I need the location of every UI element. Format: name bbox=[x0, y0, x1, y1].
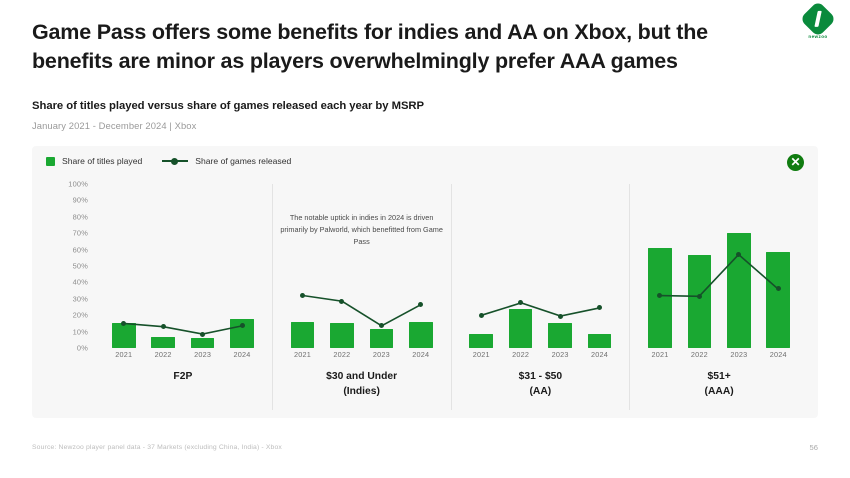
line-marker bbox=[161, 324, 166, 329]
x-axis-tick: 2023 bbox=[540, 350, 579, 359]
panel-title-line2: (Indies) bbox=[273, 385, 451, 400]
line-marker bbox=[479, 313, 484, 318]
chart-panel: The notable uptick in indies in 2024 is … bbox=[272, 184, 451, 410]
x-axis-tick: 2022 bbox=[501, 350, 540, 359]
panel-title-line1: $51+ bbox=[630, 370, 808, 385]
panel-plot bbox=[640, 184, 798, 348]
panel-title: F2P bbox=[94, 370, 272, 385]
chart-heading: Share of titles played versus share of g… bbox=[32, 100, 424, 112]
x-axis-tick: 2024 bbox=[401, 350, 440, 359]
x-axis-labels: 2021202220232024 bbox=[104, 350, 262, 359]
panel-plot bbox=[104, 184, 262, 348]
panel-title: $31 - $50(AA) bbox=[452, 370, 630, 400]
legend-item-games-released: Share of games released bbox=[162, 156, 291, 166]
panel-title: $30 and Under(Indies) bbox=[273, 370, 451, 400]
panel-title-line1: $31 - $50 bbox=[452, 370, 630, 385]
y-axis-tick: 40% bbox=[73, 278, 88, 287]
y-axis-tick: 20% bbox=[73, 311, 88, 320]
line-marker bbox=[240, 323, 245, 328]
x-axis-tick: 2022 bbox=[680, 350, 719, 359]
x-axis-tick: 2021 bbox=[640, 350, 679, 359]
y-axis-tick: 50% bbox=[73, 262, 88, 271]
y-axis-tick: 60% bbox=[73, 245, 88, 254]
chart-subheading: January 2021 - December 2024 | Xbox bbox=[32, 120, 196, 131]
x-axis-tick: 2022 bbox=[322, 350, 361, 359]
chart-card: Share of titles played Share of games re… bbox=[32, 146, 818, 418]
x-axis-tick: 2024 bbox=[580, 350, 619, 359]
panel-title-line1: F2P bbox=[94, 370, 272, 385]
newzoo-diamond-icon bbox=[800, 1, 837, 38]
panel-plot bbox=[283, 184, 441, 348]
y-axis-tick: 80% bbox=[73, 212, 88, 221]
chart-panel: 2021202220232024$51+(AAA) bbox=[629, 184, 808, 410]
chart-panel: 2021202220232024F2P bbox=[94, 184, 272, 410]
newzoo-logo: newzoo bbox=[800, 6, 836, 44]
line-series bbox=[283, 184, 441, 348]
panel-title-line2: (AAA) bbox=[630, 385, 808, 400]
x-axis-tick: 2021 bbox=[283, 350, 322, 359]
y-axis-tick: 0% bbox=[77, 344, 88, 353]
line-marker bbox=[697, 294, 702, 299]
legend-label-titles-played: Share of titles played bbox=[62, 156, 142, 166]
y-axis-tick: 90% bbox=[73, 196, 88, 205]
x-axis-tick: 2024 bbox=[759, 350, 798, 359]
chart-panel: 2021202220232024$31 - $50(AA) bbox=[451, 184, 630, 410]
line-series bbox=[104, 184, 262, 348]
x-axis-tick: 2023 bbox=[362, 350, 401, 359]
line-marker bbox=[300, 293, 305, 298]
y-axis-tick: 10% bbox=[73, 327, 88, 336]
line-path bbox=[660, 255, 778, 297]
line-path bbox=[124, 323, 242, 334]
x-axis-labels: 2021202220232024 bbox=[462, 350, 620, 359]
x-axis-tick: 2022 bbox=[143, 350, 182, 359]
legend-bar-swatch-icon bbox=[46, 157, 55, 166]
x-axis-tick: 2024 bbox=[222, 350, 261, 359]
x-axis-labels: 2021202220232024 bbox=[283, 350, 441, 359]
line-series bbox=[640, 184, 798, 348]
x-axis-tick: 2023 bbox=[183, 350, 222, 359]
y-axis-tick: 100% bbox=[68, 180, 88, 189]
panel-title: $51+(AAA) bbox=[630, 370, 808, 400]
chart-legend: Share of titles played Share of games re… bbox=[46, 156, 291, 166]
page-title: Game Pass offers some benefits for indie… bbox=[32, 18, 772, 75]
x-axis-labels: 2021202220232024 bbox=[640, 350, 798, 359]
x-axis-tick: 2021 bbox=[462, 350, 501, 359]
line-marker bbox=[200, 332, 205, 337]
panel-plot bbox=[462, 184, 620, 348]
x-axis-tick: 2021 bbox=[104, 350, 143, 359]
source-note: Source: Newzoo player panel data - 37 Ma… bbox=[32, 444, 282, 451]
line-series bbox=[462, 184, 620, 348]
line-marker bbox=[558, 314, 563, 319]
line-path bbox=[302, 296, 420, 326]
chart-plot-area: 100%90%80%70%60%50%40%30%20%10%0% 202120… bbox=[46, 184, 808, 410]
line-path bbox=[481, 303, 599, 316]
y-axis-tick: 70% bbox=[73, 229, 88, 238]
panel-title-line1: $30 and Under bbox=[273, 370, 451, 385]
y-axis-tick: 30% bbox=[73, 294, 88, 303]
legend-label-games-released: Share of games released bbox=[195, 156, 291, 166]
chart-panels: 2021202220232024F2PThe notable uptick in… bbox=[94, 184, 808, 410]
panel-title-line2: (AA) bbox=[452, 385, 630, 400]
legend-line-swatch-icon bbox=[162, 157, 188, 166]
x-axis-tick: 2023 bbox=[719, 350, 758, 359]
legend-item-titles-played: Share of titles played bbox=[46, 156, 142, 166]
y-axis: 100%90%80%70%60%50%40%30%20%10%0% bbox=[46, 184, 92, 348]
xbox-logo: ✕ bbox=[787, 154, 804, 171]
page-number: 56 bbox=[810, 443, 818, 452]
